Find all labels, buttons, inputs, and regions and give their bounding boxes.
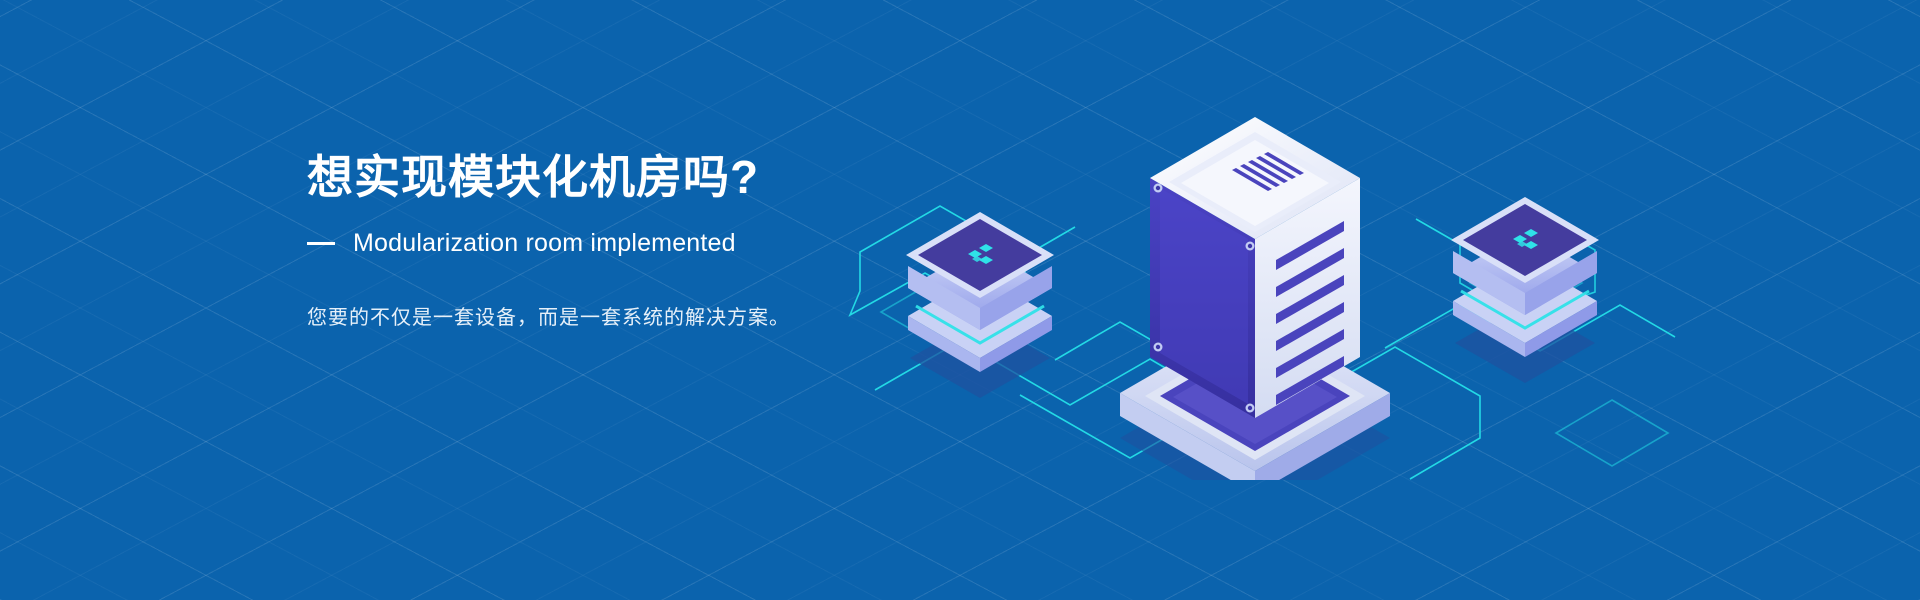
hero-banner: 想实现模块化机房吗? Modularization room implement… xyxy=(0,0,1920,600)
hero-subtitle: Modularization room implemented xyxy=(353,228,736,258)
isometric-server-illustration xyxy=(820,60,1700,480)
accent-dash-icon xyxy=(307,242,335,245)
central-server-tower xyxy=(1120,117,1390,480)
